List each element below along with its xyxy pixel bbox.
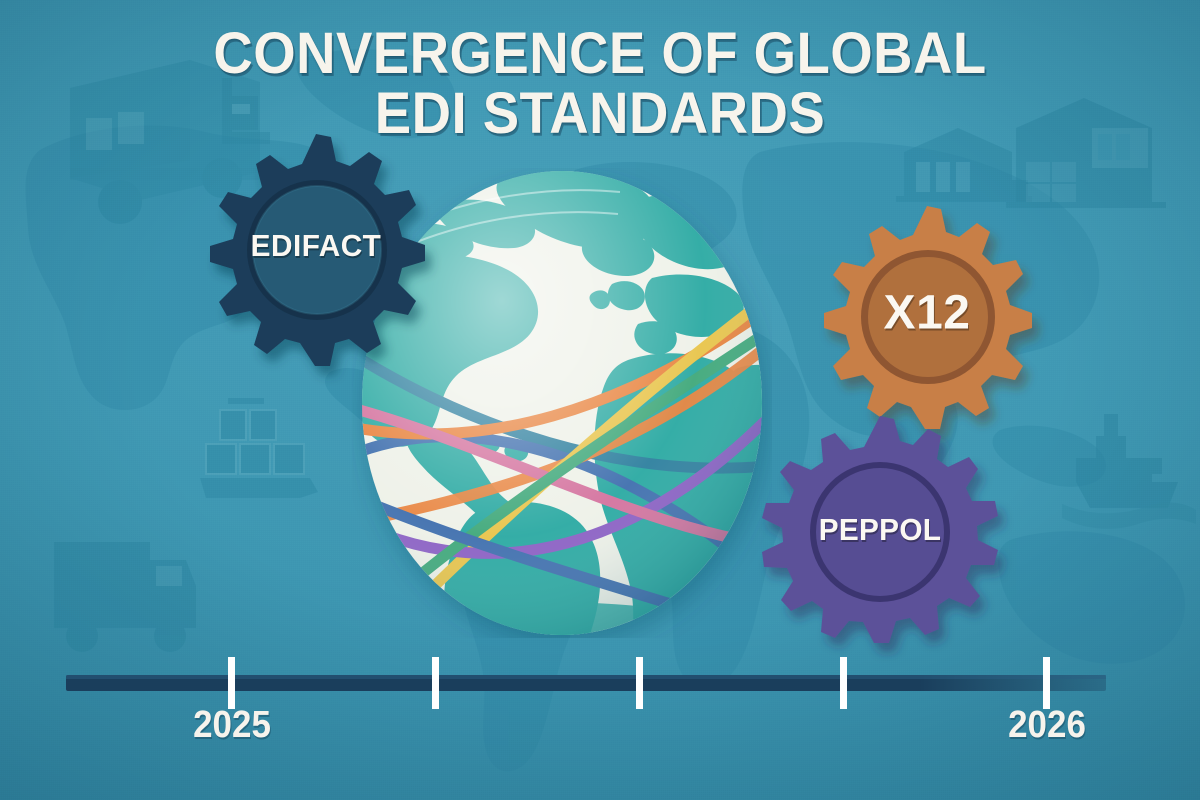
gear-peppol[interactable]: PEPPOL: [762, 412, 998, 648]
timeline-tick-2: [432, 657, 439, 709]
title-line-1: CONVERGENCE OF GLOBAL: [36, 24, 1164, 84]
title-line-2: EDI STANDARDS: [36, 84, 1164, 144]
gear-edifact[interactable]: EDIFACT: [198, 128, 434, 364]
cargo-ship-icon: [1062, 414, 1196, 529]
timeline-ticks: [228, 657, 1050, 709]
timeline-label-end: 2026: [1008, 704, 1086, 747]
container-stack-icon: [200, 398, 318, 498]
truck-icon-bottom-left: [54, 542, 196, 652]
gear-x12-inner: [868, 257, 988, 377]
gear-peppol-inner: [816, 468, 944, 596]
timeline-label-start: 2025: [193, 704, 271, 747]
timeline-tick-4: [840, 657, 847, 709]
page-title: CONVERGENCE OF GLOBAL EDI STANDARDS: [36, 24, 1164, 143]
timeline-tick-3: [636, 657, 643, 709]
timeline-tick-5: [1043, 657, 1050, 709]
timeline-bar: [66, 675, 1106, 691]
timeline-tick-1: [228, 657, 235, 709]
gear-x12[interactable]: X12: [816, 202, 1038, 424]
infographic-canvas: CONVERGENCE OF GLOBAL EDI STANDARDS: [0, 0, 1200, 800]
